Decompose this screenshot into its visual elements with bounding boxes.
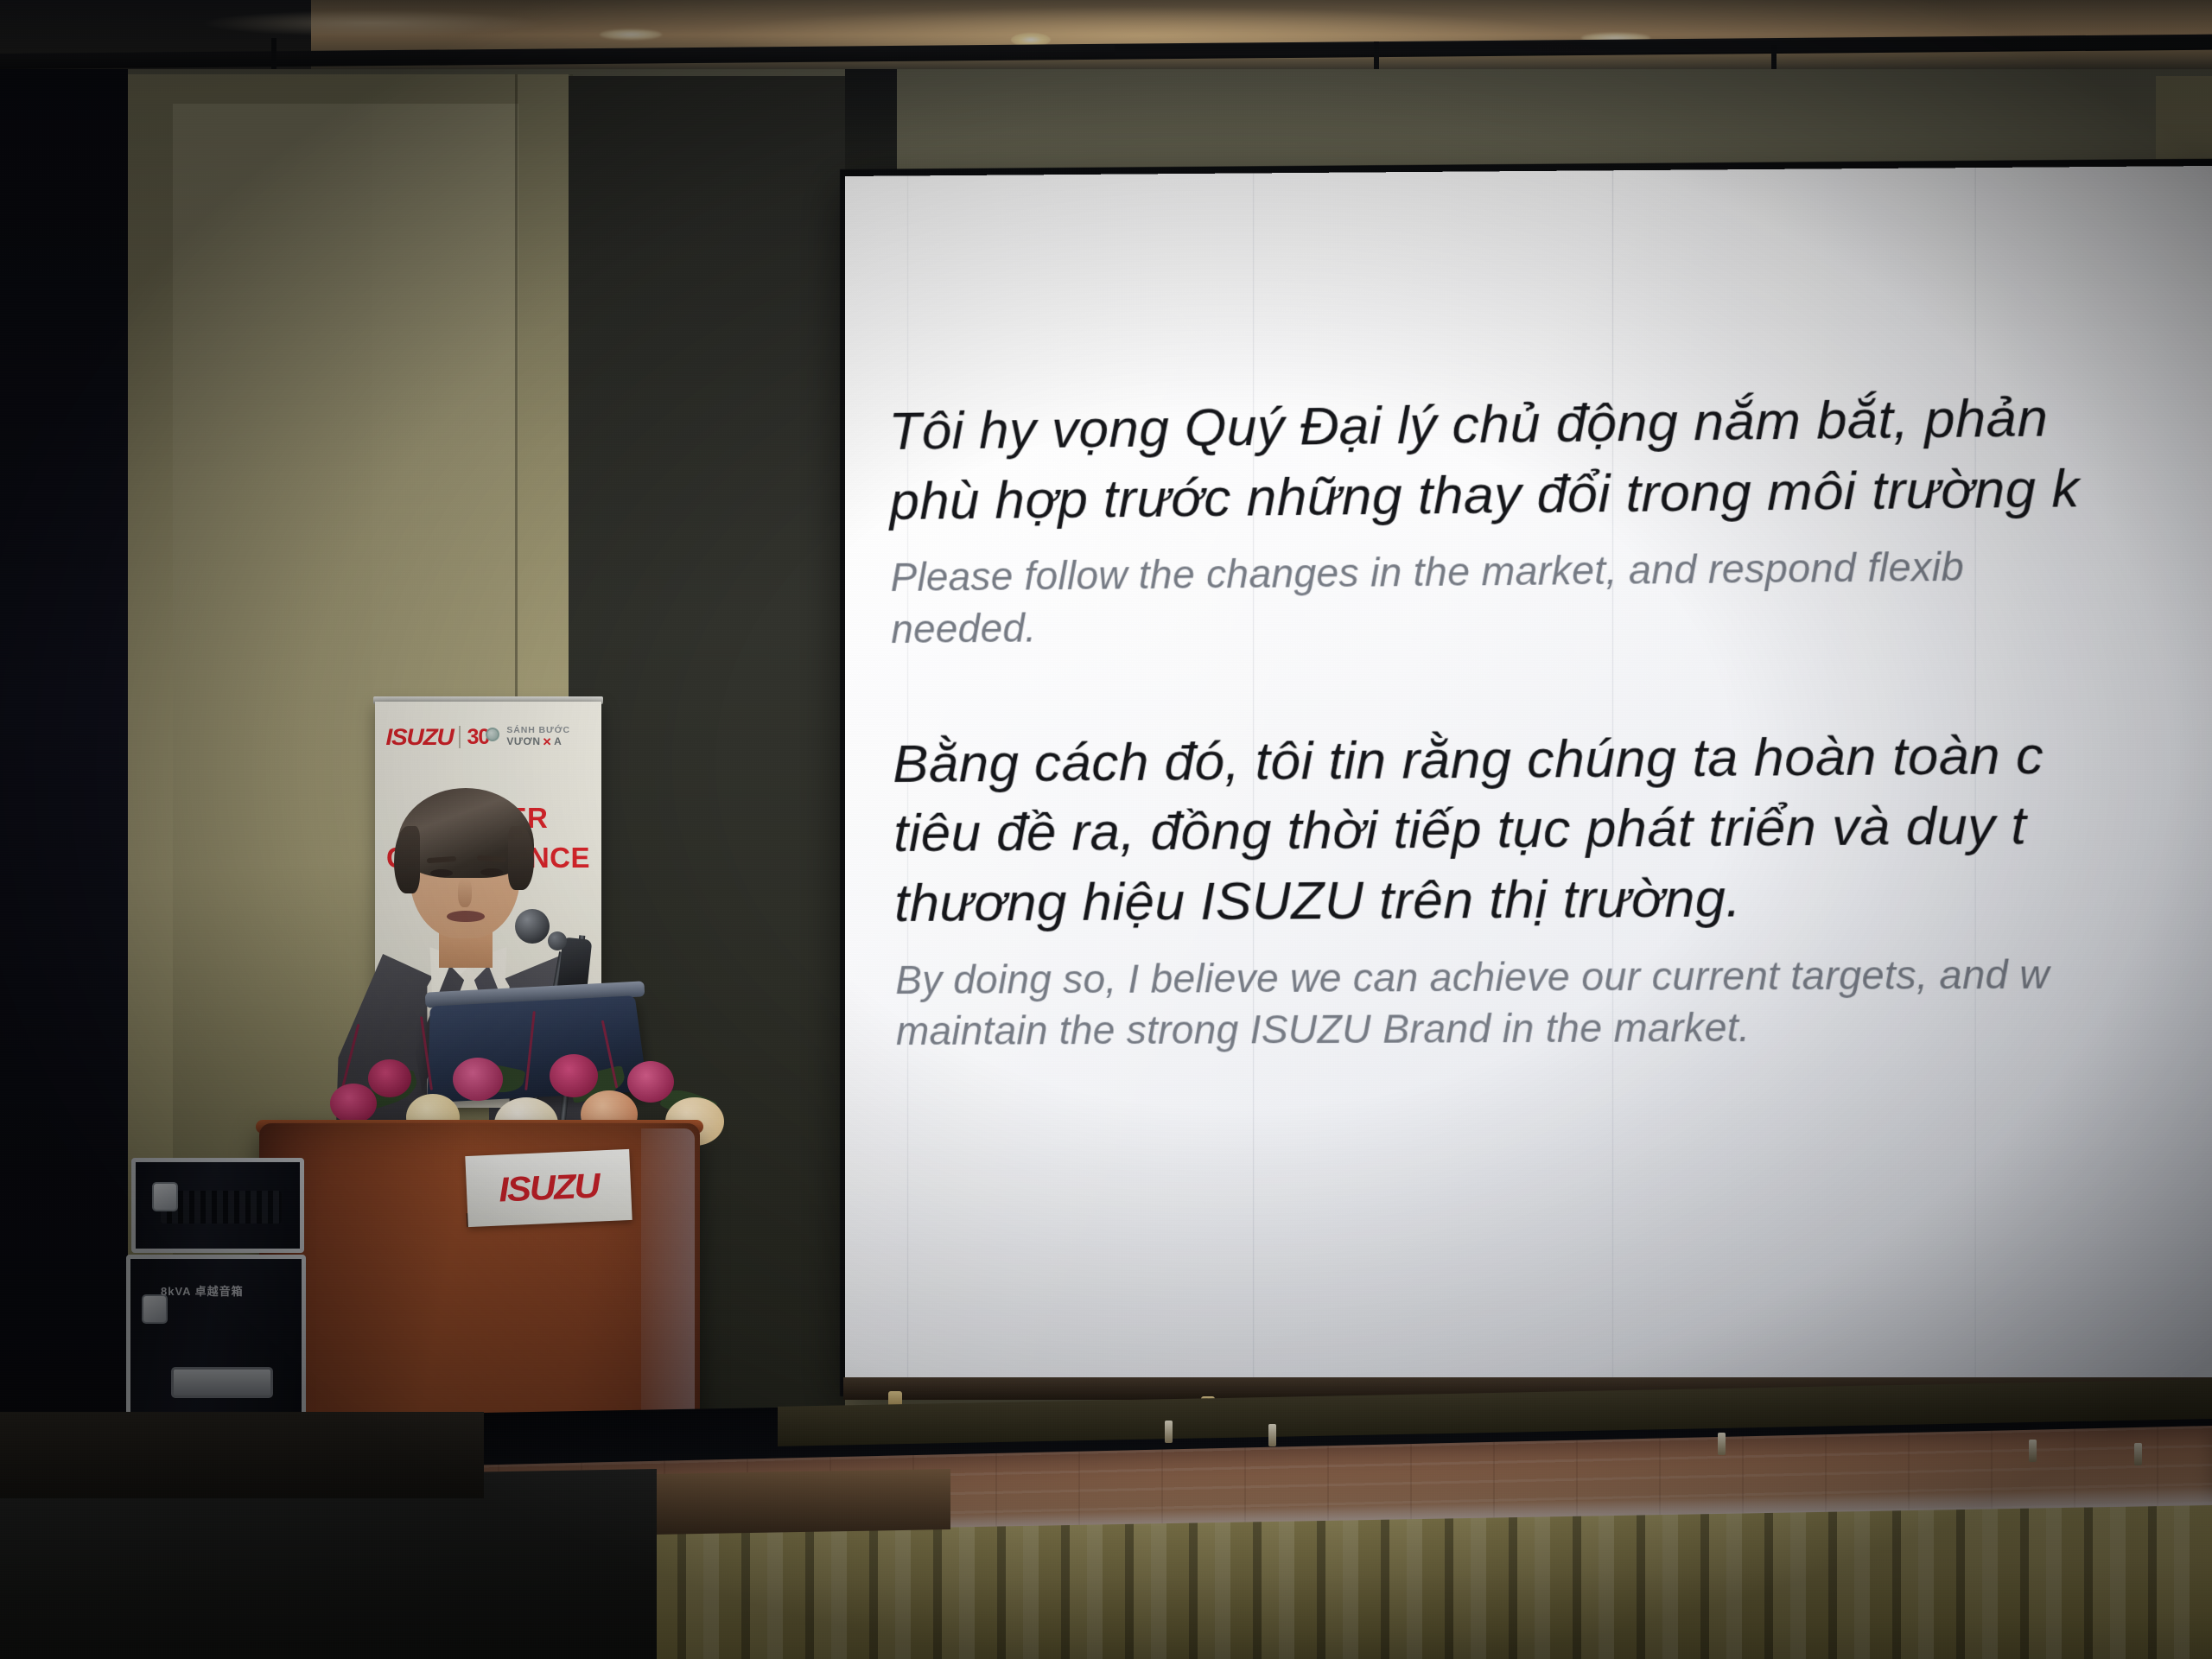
- case-handle: [171, 1367, 273, 1398]
- tagline-word: VƯƠN: [506, 736, 540, 747]
- podium-brand-plate: ISUZU: [465, 1149, 632, 1227]
- eye-right: [480, 868, 503, 876]
- tagline-word-tail: A: [554, 736, 562, 747]
- nose: [458, 878, 472, 907]
- presentation-scene: Tôi hy vọng Quý Đại lý chủ động nắm bắt,…: [0, 0, 2212, 1659]
- flower: [368, 1059, 411, 1097]
- stage-bolt-icon: [1268, 1424, 1276, 1446]
- case-latch-icon: [152, 1182, 178, 1211]
- slide-line-en: By doing so, I believe we can achieve ou…: [895, 947, 2212, 1006]
- tagline-line-2: VƯƠN ✕ A: [506, 736, 570, 749]
- stage-bolt-icon: [1718, 1433, 1726, 1455]
- mouth: [447, 911, 485, 922]
- banner-logo-row: ISUZU 30 SÁNH BƯỚC VƯƠN ✕ A: [387, 722, 593, 752]
- case-latch-icon: [142, 1294, 168, 1324]
- ceiling-light-icon: [600, 29, 662, 40]
- flower: [627, 1061, 674, 1103]
- case-label: 8kVA 卓越音箱: [161, 1282, 244, 1299]
- speaker-grille-icon: [161, 1191, 282, 1224]
- banner-tagline: SÁNH BƯỚC VƯƠN ✕ A: [506, 726, 570, 748]
- slide-line-en: maintain the strong ISUZU Brand in the m…: [896, 1000, 2212, 1058]
- globe-icon: [486, 728, 499, 741]
- x-mark-icon: ✕: [543, 736, 553, 749]
- wall-dark-recess-upper: [845, 69, 897, 173]
- spacer: [892, 643, 2212, 730]
- flower: [453, 1058, 503, 1101]
- microphone-icon-secondary: [548, 931, 567, 950]
- truss-drop-rod: [271, 38, 276, 69]
- podium-isuzu-logo: ISUZU: [498, 1166, 599, 1210]
- logo-divider: [459, 726, 461, 748]
- slide-line-vi: thương hiệu ISUZU trên thị trường.: [894, 861, 2212, 939]
- microphone-icon: [515, 909, 550, 944]
- cove-light-glow: [130, 5, 613, 41]
- slide-line-vi: Bằng cách đó, tôi tin rằng chúng ta hoàn…: [893, 719, 2212, 800]
- flower: [330, 1084, 377, 1123]
- wall-column-dark: [0, 69, 128, 1486]
- stage-bolt-icon: [2134, 1443, 2142, 1465]
- eye-left: [430, 869, 453, 877]
- stage-bolt-icon: [2029, 1440, 2037, 1462]
- isuzu-logo-text: ISUZU: [385, 724, 453, 751]
- anniversary-badge: 30: [467, 725, 500, 750]
- flower: [550, 1054, 598, 1097]
- floor-left-shadow: [0, 1412, 484, 1498]
- tagline-line-1: SÁNH BƯỚC: [506, 726, 570, 736]
- hair-side-left: [394, 826, 420, 893]
- slide-content: Tôi hy vọng Quý Đại lý chủ động nắm bắt,…: [888, 380, 2212, 1058]
- slide-line-vi: tiêu đề ra, đồng thời tiếp tục phát triể…: [893, 790, 2212, 869]
- stage-bolt-icon: [1165, 1421, 1173, 1443]
